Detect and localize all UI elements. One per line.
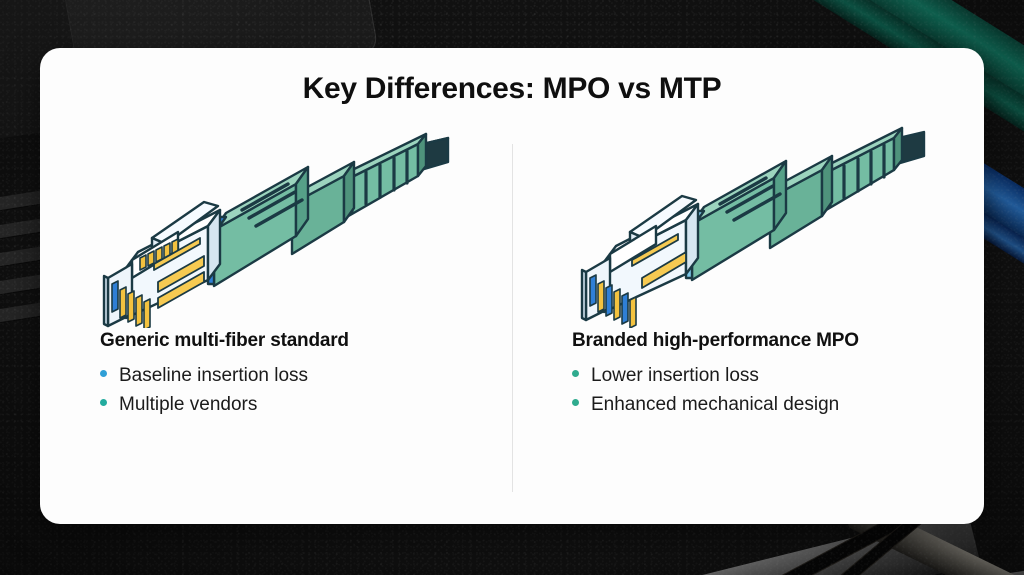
- bullet-dot-icon: [100, 399, 107, 406]
- comparison-columns: Generic multi-fiber standard Baseline in…: [40, 112, 984, 512]
- list-item: Multiple vendors: [100, 390, 456, 419]
- list-item: Enhanced mechanical design: [572, 390, 928, 419]
- bullet-text: Lower insertion loss: [591, 361, 759, 390]
- comparison-column-right: Branded high-performance MPO Lower inser…: [512, 112, 984, 512]
- comparison-column-left: Generic multi-fiber standard Baseline in…: [40, 112, 512, 512]
- list-item: Lower insertion loss: [572, 361, 928, 390]
- column-divider: [512, 144, 513, 492]
- bullet-dot-icon: [572, 370, 579, 377]
- right-column-heading: Branded high-performance MPO: [572, 330, 928, 352]
- page-title: Key Differences: MPO vs MTP: [40, 72, 984, 106]
- bullet-text: Multiple vendors: [119, 390, 257, 419]
- left-column-text: Generic multi-fiber standard Baseline in…: [96, 330, 456, 420]
- left-column-heading: Generic multi-fiber standard: [100, 330, 456, 352]
- content-card: Key Differences: MPO vs MTP: [40, 48, 984, 524]
- right-column-bullets: Lower insertion loss Enhanced mechanical…: [572, 361, 928, 420]
- bullet-dot-icon: [100, 370, 107, 377]
- mtp-connector-illustration: [568, 118, 928, 328]
- bullet-text: Baseline insertion loss: [119, 361, 308, 390]
- left-column-bullets: Baseline insertion loss Multiple vendors: [100, 361, 456, 420]
- list-item: Baseline insertion loss: [100, 361, 456, 390]
- right-column-text: Branded high-performance MPO Lower inser…: [568, 330, 928, 420]
- bullet-text: Enhanced mechanical design: [591, 390, 839, 419]
- mpo-connector-illustration: [96, 118, 456, 328]
- bullet-dot-icon: [572, 399, 579, 406]
